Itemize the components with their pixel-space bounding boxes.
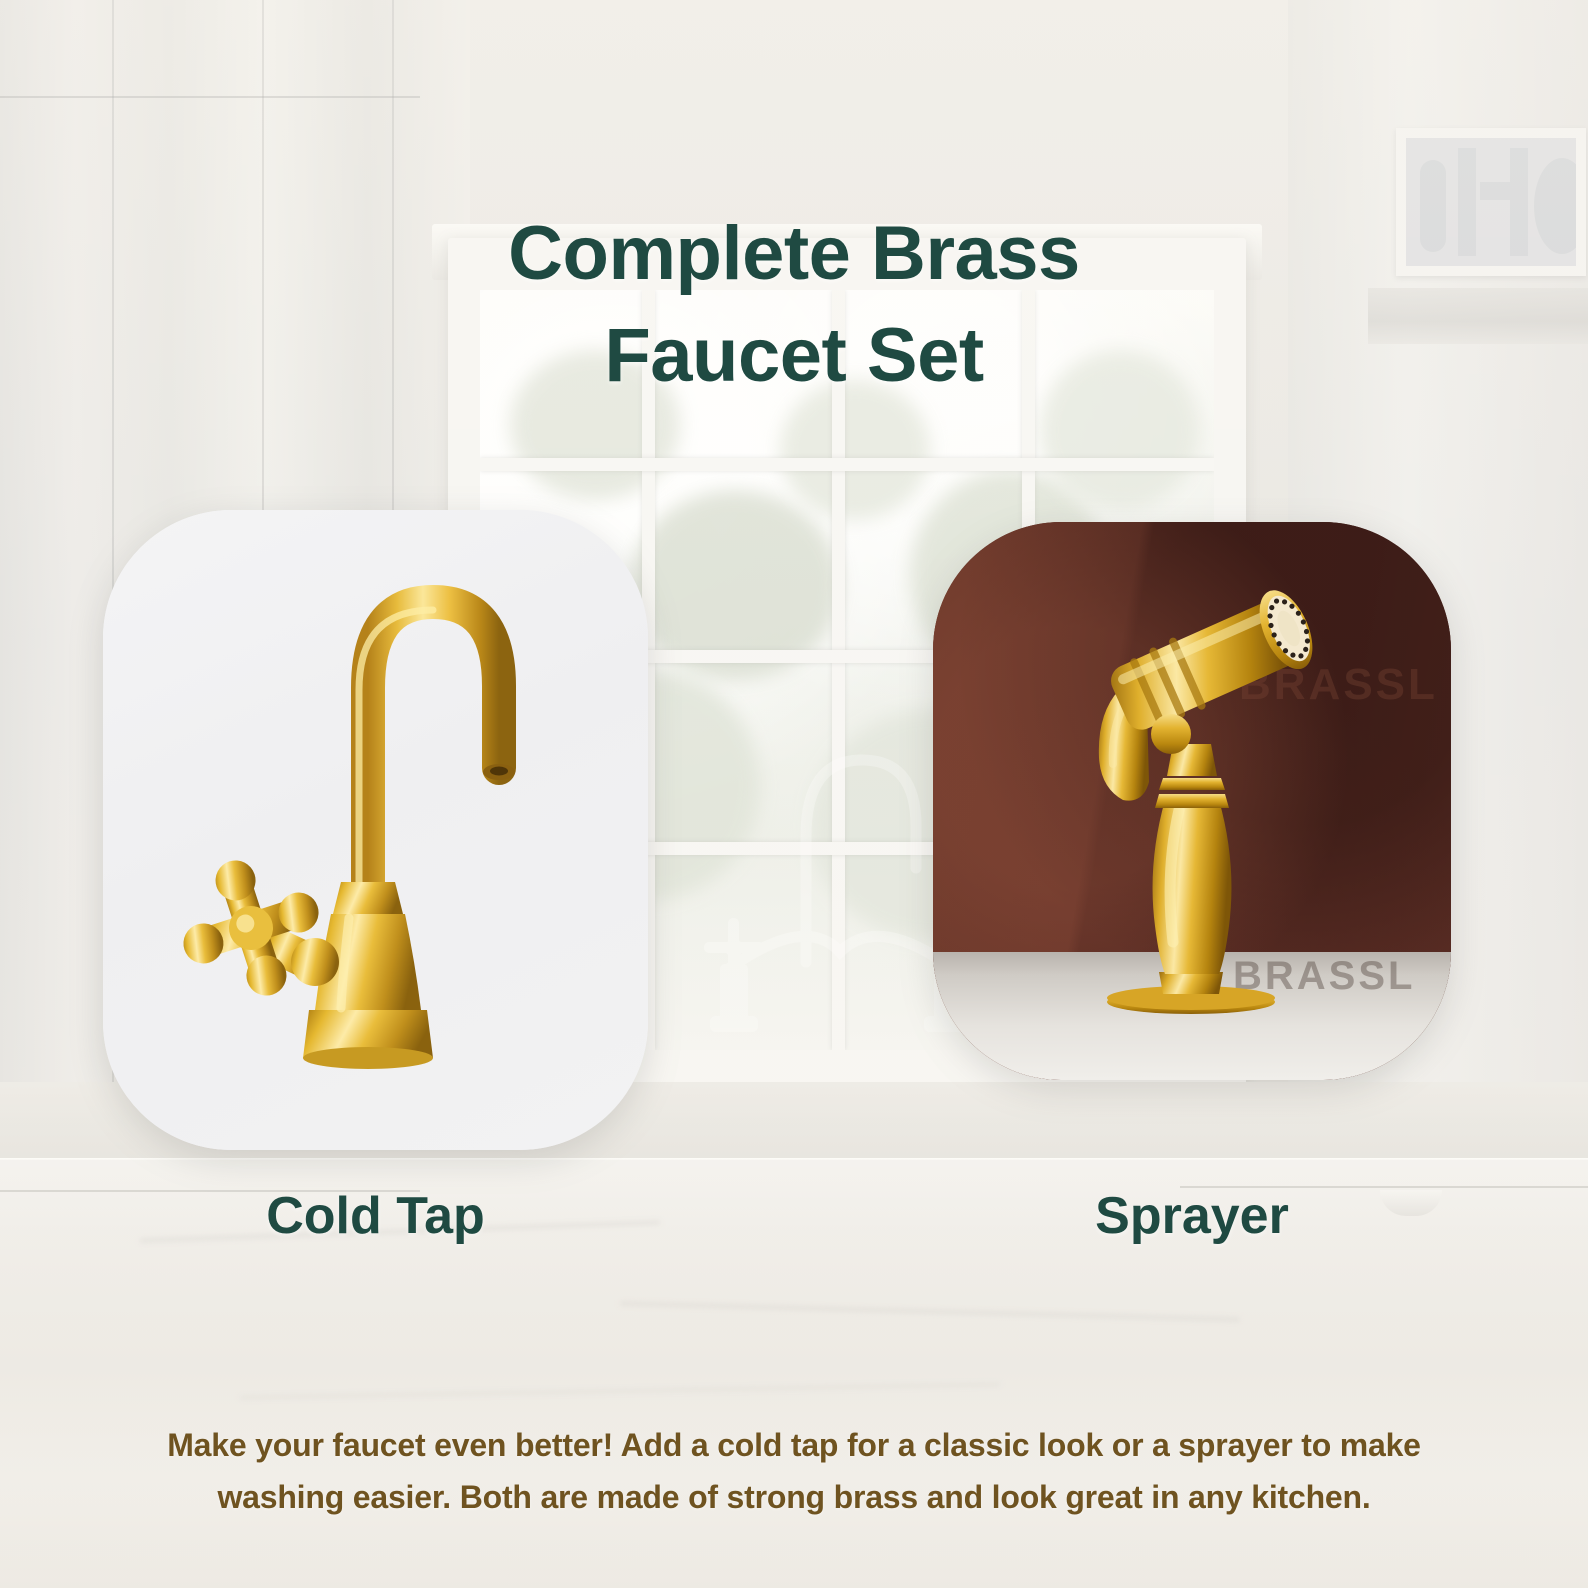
- label-sprayer: Sprayer: [933, 1186, 1451, 1246]
- promo-poster: Complete Brass Faucet Set: [0, 0, 1588, 1588]
- label-cold-tap: Cold Tap: [103, 1186, 648, 1246]
- cold-tap-product-image: [103, 510, 648, 1150]
- window-mullion: [480, 458, 1214, 471]
- title-line-1: Complete Brass: [0, 203, 1588, 305]
- promo-description: Make your faucet even better! Add a cold…: [104, 1420, 1484, 1524]
- product-card-cold-tap[interactable]: [103, 510, 648, 1150]
- cabinet-seam: [0, 96, 420, 98]
- product-card-sprayer[interactable]: BRASSL BRASSL: [933, 522, 1451, 1080]
- title-line-2: Faucet Set: [0, 305, 1588, 407]
- page-title: Complete Brass Faucet Set: [0, 203, 1588, 407]
- sprayer-product-image: [933, 522, 1451, 1080]
